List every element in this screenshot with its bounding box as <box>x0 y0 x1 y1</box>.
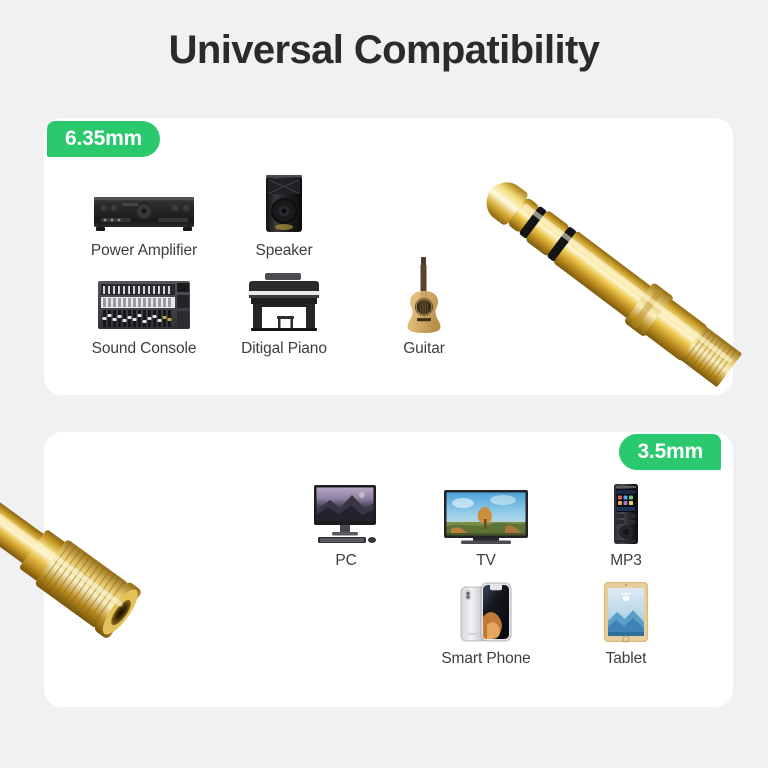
device-item-mp3[interactable]: MP3 <box>556 478 696 570</box>
device-label: PC <box>335 552 356 570</box>
device-item-tablet[interactable]: Tablet <box>556 576 696 668</box>
device-item-tv[interactable]: TV <box>416 478 556 570</box>
tablet-icon <box>601 581 651 643</box>
device-grid-6-35mm: Power Amplifier <box>74 168 494 358</box>
guitar-icon <box>401 271 447 333</box>
device-item-sound-console[interactable]: Sound Console <box>74 266 214 358</box>
device-row: Sound Console <box>74 266 494 358</box>
device-label: Power Amplifier <box>91 242 197 260</box>
infographic-page: Universal Compatibility 6.35mm <box>0 0 768 768</box>
smart-phone-icon <box>459 581 513 643</box>
device-item-speaker[interactable]: Speaker <box>214 168 354 260</box>
device-row: PC <box>276 478 696 570</box>
device-label: Ditigal Piano <box>241 340 327 358</box>
device-label: Sound Console <box>92 340 197 358</box>
device-label: Smart Phone <box>441 650 530 668</box>
sound-console-icon <box>96 271 192 333</box>
device-label: TV <box>476 552 496 570</box>
device-row: Power Amplifier <box>74 168 494 260</box>
device-item-power-amplifier[interactable]: Power Amplifier <box>74 168 214 260</box>
badge-3-5mm: 3.5mm <box>619 434 721 470</box>
pc-monitor-icon <box>310 483 382 545</box>
badge-6-35mm: 6.35mm <box>47 121 160 157</box>
device-item-guitar[interactable]: Guitar <box>354 266 494 358</box>
device-label: Tablet <box>606 650 647 668</box>
device-row: Smart Phone <box>276 576 696 668</box>
device-label: Speaker <box>255 242 312 260</box>
power-amplifier-icon <box>92 173 196 235</box>
device-item-smart-phone[interactable]: Smart Phone <box>416 576 556 668</box>
device-label: MP3 <box>610 552 642 570</box>
digital-piano-icon <box>242 271 326 333</box>
tv-icon <box>443 483 529 545</box>
device-item-pc[interactable]: PC <box>276 478 416 570</box>
device-item-digital-piano[interactable]: Ditigal Piano <box>214 266 354 358</box>
device-grid-3-5mm: PC <box>276 478 696 668</box>
page-title: Universal Compatibility <box>0 28 768 73</box>
device-label: Guitar <box>403 340 445 358</box>
mp3-player-icon <box>611 483 641 545</box>
speaker-icon <box>258 173 310 235</box>
